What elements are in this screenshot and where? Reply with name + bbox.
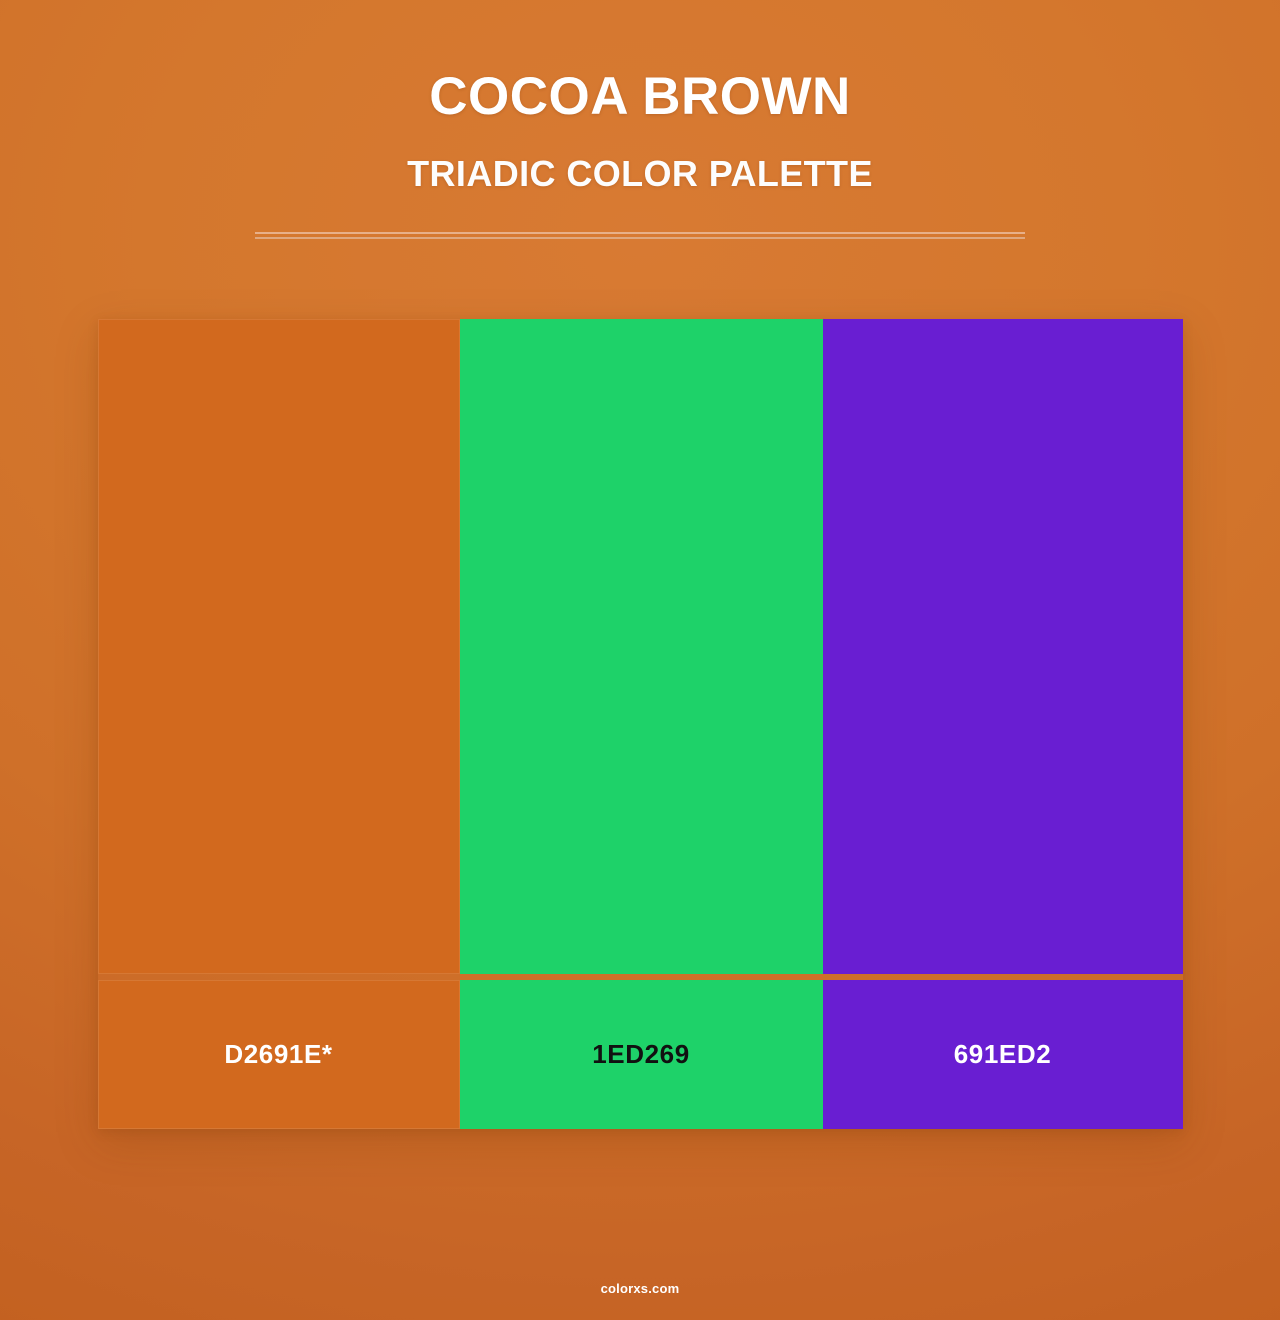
color-swatch-1[interactable] xyxy=(98,319,460,974)
page-title: COCOA BROWN xyxy=(0,66,1280,127)
color-swatch-2[interactable] xyxy=(460,319,823,974)
palette-page: COCOA BROWN TRIADIC COLOR PALETTE D2691E… xyxy=(0,0,1280,1320)
divider-line-bottom xyxy=(255,237,1025,239)
page-footer: colorxs.com xyxy=(0,1280,1280,1298)
page-subtitle: TRIADIC COLOR PALETTE xyxy=(0,153,1280,195)
hex-code-2: 1ED269 xyxy=(592,1039,690,1070)
color-label-cell-1[interactable]: D2691E* xyxy=(98,980,460,1129)
header-divider xyxy=(255,232,1025,239)
color-label-cell-2[interactable]: 1ED269 xyxy=(460,980,823,1129)
hex-code-1: D2691E* xyxy=(224,1039,332,1070)
label-row: D2691E* 1ED269 691ED2 xyxy=(98,980,1183,1129)
site-credit: colorxs.com xyxy=(601,1281,680,1296)
hex-code-3: 691ED2 xyxy=(954,1039,1052,1070)
page-header: COCOA BROWN TRIADIC COLOR PALETTE xyxy=(0,0,1280,239)
color-label-cell-3[interactable]: 691ED2 xyxy=(823,980,1183,1129)
palette-card: D2691E* 1ED269 691ED2 xyxy=(98,319,1183,1129)
color-swatch-3[interactable] xyxy=(823,319,1183,974)
swatch-row xyxy=(98,319,1183,974)
divider-line-top xyxy=(255,232,1025,234)
